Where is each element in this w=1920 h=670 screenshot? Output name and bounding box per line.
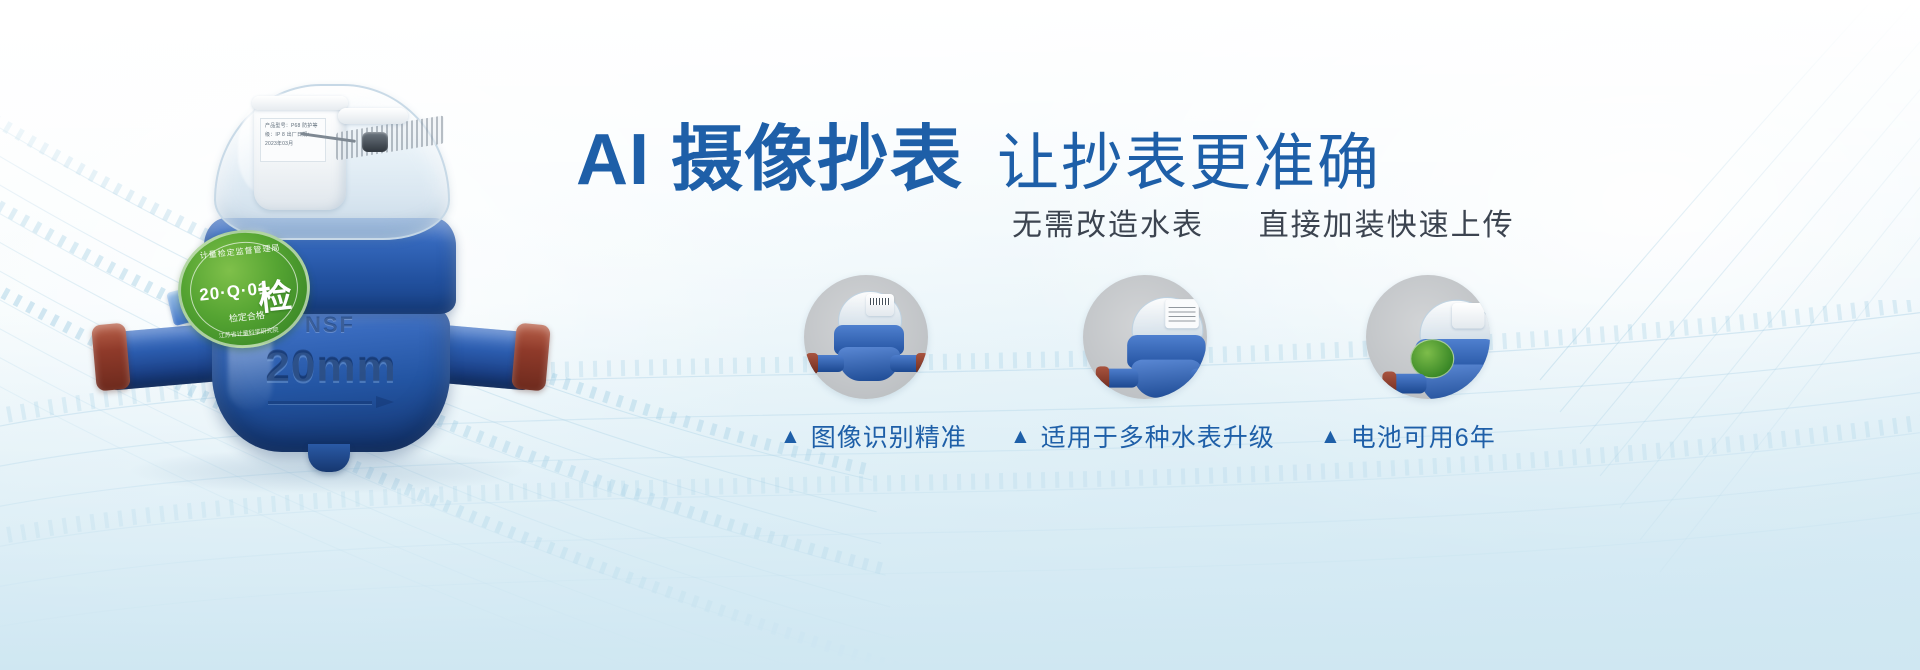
thumb1-nut-right [916, 353, 928, 374]
thumb3-green-seal [1410, 339, 1454, 378]
module-spec-label: 产品型号：P68 防护等级：IP 8 出厂日期：2023年03月 [260, 118, 326, 162]
triangle-marker-icon: ▲ [1320, 426, 1342, 447]
meter-nut-left [91, 323, 131, 392]
hero-product-image: 20mm NSF 产品型号：P68 防护等级：IP 8 出厂日期：2023年03… [86, 78, 556, 498]
thumb2-pipe-right [1190, 369, 1207, 388]
thumb1-nut-left [806, 353, 818, 374]
flow-arrow-icon [268, 396, 394, 408]
thumbnail-meter-white-label[interactable] [1083, 275, 1207, 399]
thumb2-nut-left [1096, 366, 1109, 390]
promo-banner: 20mm NSF 产品型号：P68 防护等级：IP 8 出厂日期：2023年03… [0, 0, 1920, 670]
feature-caption-image-recognition: ▲ 图像识别精准 [780, 418, 967, 454]
headline: AI 摄像抄表 让抄表更准确 [576, 100, 1876, 205]
feature-caption-row: ▲ 图像识别精准 ▲ 适用于多种水表升级 ▲ 电池可用6年 [780, 418, 1910, 458]
subheadline-left: 无需改造水表 [1012, 209, 1204, 242]
camera-module-cap [252, 96, 348, 110]
meter-nut-right [511, 323, 551, 392]
thumb1-module-bars [870, 298, 890, 305]
subheadline-right: 直接加装快速上传 [1259, 209, 1515, 242]
thumb2-label-barcode [1169, 304, 1196, 322]
thumb3-nut-left [1382, 371, 1396, 395]
triangle-marker-icon: ▲ [780, 426, 802, 447]
thumbnail-row [790, 275, 1850, 410]
subheadline: 无需改造水表 直接加装快速上传 [1012, 200, 1515, 244]
thumbnail-meter-clear-dome[interactable] [804, 275, 928, 399]
camera-arm [338, 108, 408, 124]
triangle-marker-icon: ▲ [1010, 426, 1032, 447]
feature-label: 电池可用6年 [1351, 418, 1496, 454]
headline-sub-text: 让抄表更准确 [997, 112, 1381, 202]
feature-caption-meter-compatibility: ▲ 适用于多种水表升级 [1010, 418, 1275, 454]
feature-label: 图像识别精准 [811, 418, 967, 454]
meter-size-marking: 20mm [236, 342, 426, 392]
feature-label: 适用于多种水表升级 [1041, 418, 1275, 454]
camera-lens-icon [362, 132, 388, 152]
thumb3-module [1452, 303, 1484, 329]
headline-main-text: AI 摄像抄表 [576, 100, 963, 205]
feature-caption-battery-life: ▲ 电池可用6年 [1320, 418, 1496, 454]
thumb3-pipe-right [1480, 374, 1490, 394]
thumbnail-meter-green-seal[interactable] [1366, 275, 1490, 399]
